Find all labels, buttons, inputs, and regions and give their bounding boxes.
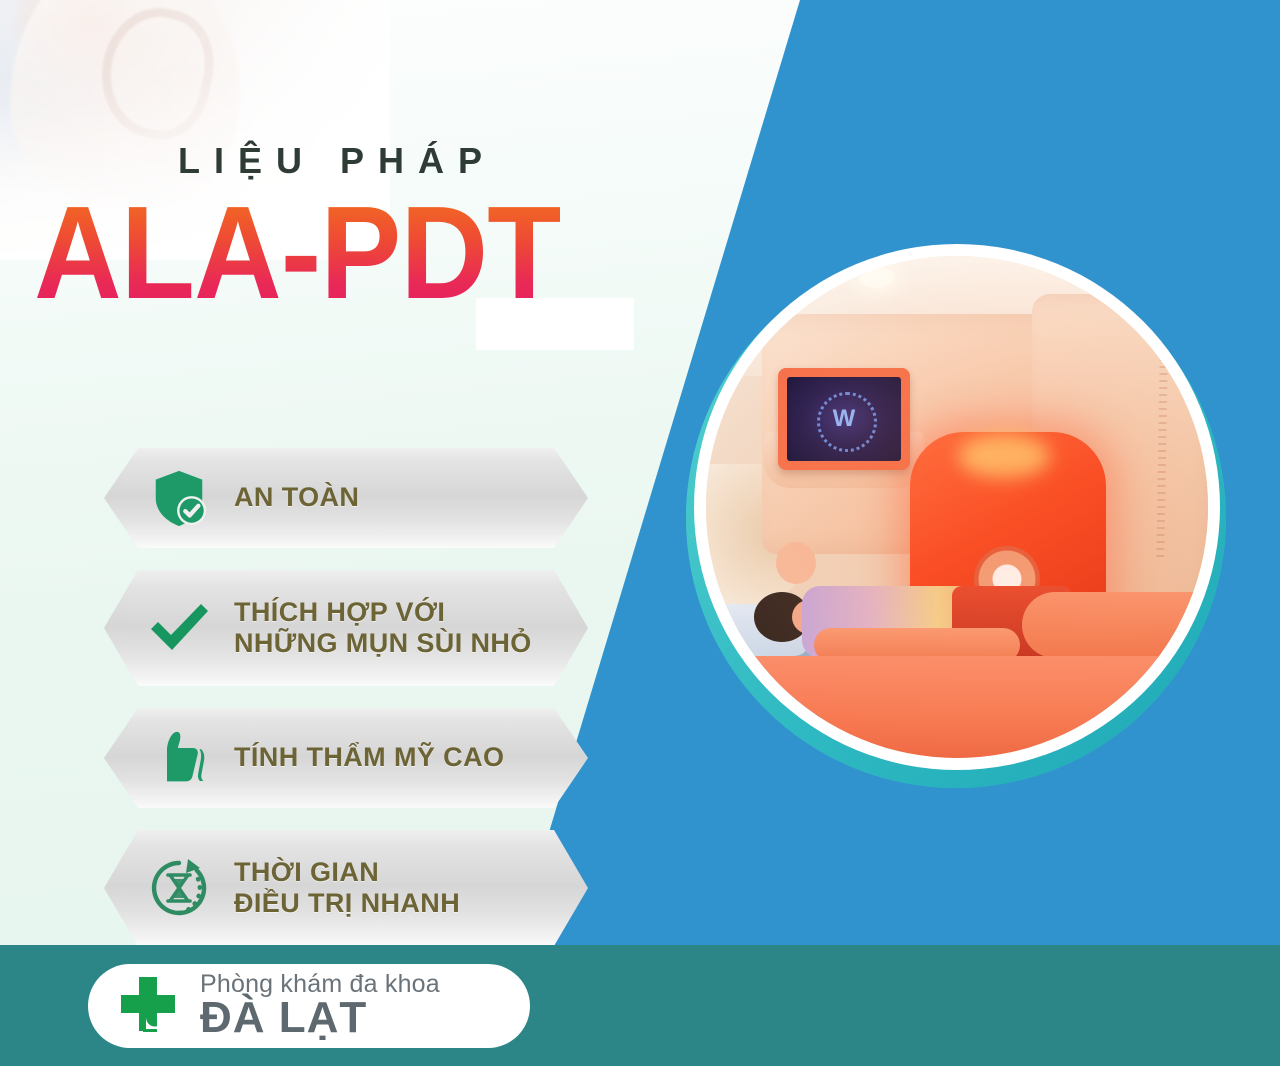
thumbs-up-icon — [142, 721, 216, 795]
feature-badge-label: AN TOÀN — [234, 482, 359, 513]
brand-row: ALA-PDT — [0, 190, 660, 317]
clinic-name: ĐÀ LẠT — [200, 996, 440, 1041]
treatment-room-photo: W — [706, 256, 1208, 758]
headline-block: LIỆU PHÁP ALA-PDT — [0, 140, 660, 317]
medical-cross-leaf-icon — [112, 970, 184, 1042]
stethoscope-shape — [90, 0, 225, 148]
hourglass-clock-icon — [142, 851, 216, 925]
feature-badge-list: AN TOÀN THÍCH HỢP VỚI NHỮNG MỤN SÙI NHỎ — [104, 448, 592, 945]
headline-kicker: LIỆU PHÁP — [0, 140, 660, 182]
blanked-text-block — [476, 298, 634, 350]
clinic-logo-text: Phòng khám đa khoa ĐÀ LẠT — [200, 971, 440, 1041]
feature-badge-tham-my[interactable]: TÍNH THẨM MỸ CAO — [104, 708, 588, 808]
feature-badge-thoi-gian[interactable]: THỜI GIAN ĐIỀU TRỊ NHANH — [104, 830, 588, 945]
check-mark-icon — [142, 591, 216, 665]
footer-bar: Phòng khám đa khoa ĐÀ LẠT 1900.633.598 — [0, 945, 1280, 1066]
banner-stage: LIỆU PHÁP ALA-PDT — [0, 0, 1280, 945]
feature-badge-label: TÍNH THẨM MỸ CAO — [234, 742, 504, 773]
feature-badge-label: THÍCH HỢP VỚI NHỮNG MỤN SÙI NHỎ — [234, 597, 532, 660]
photo-warm-overlay — [706, 256, 1208, 758]
feature-badge-label: THỜI GIAN ĐIỀU TRỊ NHANH — [234, 857, 460, 920]
feature-badge-thich-hop[interactable]: THÍCH HỢP VỚI NHỮNG MỤN SÙI NHỎ — [104, 570, 588, 686]
shield-check-icon — [142, 461, 216, 535]
feature-badge-an-toan[interactable]: AN TOÀN — [104, 448, 588, 548]
ala-pdt-promo-banner: LIỆU PHÁP ALA-PDT — [0, 0, 1280, 1066]
clinic-logo-pill[interactable]: Phòng khám đa khoa ĐÀ LẠT — [88, 964, 530, 1048]
